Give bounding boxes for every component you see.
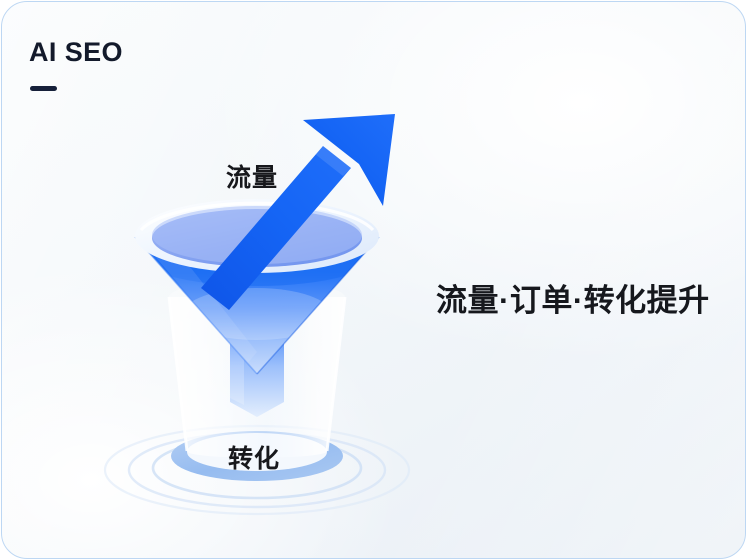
label-traffic: 流量 [226, 158, 278, 194]
slide-card: AI SEO 流量·订单·转化提升 [1, 1, 746, 559]
title-underline-rule [30, 86, 57, 91]
illustration-slide: AI SEO 流量·订单·转化提升 [0, 0, 747, 560]
tagline-text: 流量·订单·转化提升 [436, 275, 710, 320]
page-title: AI SEO [29, 37, 123, 68]
label-conversion: 转化 [228, 439, 280, 475]
